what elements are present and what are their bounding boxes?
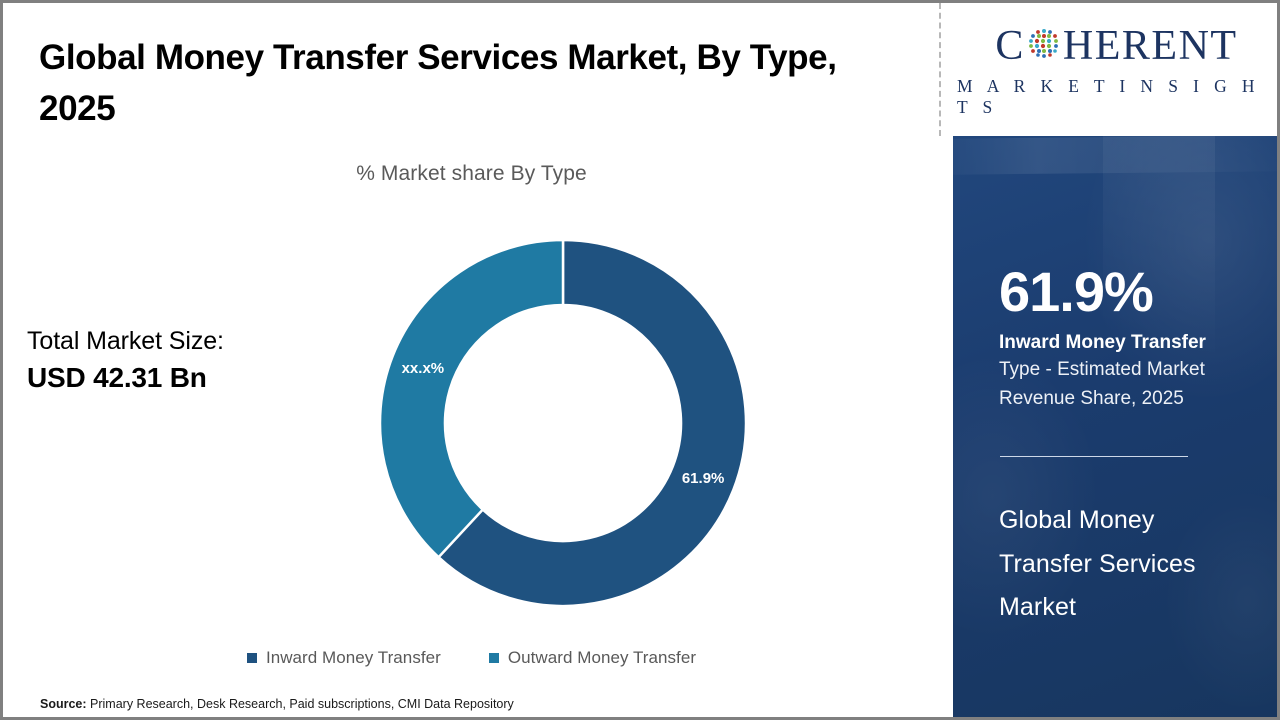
source-note-label: Source: xyxy=(40,697,87,711)
stat-divider-rule xyxy=(1000,456,1188,457)
slice-label-outward: xx.x% xyxy=(402,360,445,377)
stat-detail-text: Type - Estimated Market Revenue Share, 2… xyxy=(999,356,1261,414)
brand-logo: C xyxy=(953,3,1280,136)
legend-swatch-inward-icon xyxy=(247,653,257,663)
brand-logo-wordmark: C xyxy=(995,22,1237,70)
total-market-size-value: USD 42.31 Bn xyxy=(27,360,327,396)
total-market-size-block: Total Market Size: USD 42.31 Bn xyxy=(27,325,327,396)
page-title: Global Money Transfer Services Market, B… xyxy=(39,33,919,135)
chart-subtitle: % Market share By Type xyxy=(3,162,940,186)
stat-market-name: Global Money Transfer Services Market xyxy=(999,499,1249,630)
stat-headline: Inward Money Transfer xyxy=(999,331,1259,356)
donut-slice-outward-money-transfer[interactable] xyxy=(380,240,563,557)
stat-percentage: 61.9% xyxy=(999,264,1153,320)
legend-item-outward[interactable]: Outward Money Transfer xyxy=(489,648,696,668)
total-market-size-label: Total Market Size: xyxy=(27,325,327,357)
legend-item-inward[interactable]: Inward Money Transfer xyxy=(247,648,441,668)
logo-word-after: HERENT xyxy=(1063,25,1238,67)
slice-label-inward: 61.9% xyxy=(682,470,725,487)
legend-label-outward: Outward Money Transfer xyxy=(508,648,696,668)
legend-swatch-outward-icon xyxy=(489,653,499,663)
chart-legend: Inward Money Transfer Outward Money Tran… xyxy=(3,648,940,668)
logo-word-before: C xyxy=(995,25,1025,67)
brand-logo-subtitle: M A R K E T I N S I G H T S xyxy=(953,76,1280,118)
right-sidebar-panel: C xyxy=(953,3,1280,717)
source-note-text: Primary Research, Desk Research, Paid su… xyxy=(87,697,514,711)
donut-chart: 61.9% xx.x% xyxy=(363,223,763,623)
infographic-page: Global Money Transfer Services Market, B… xyxy=(0,0,1280,720)
left-content-panel: Global Money Transfer Services Market, B… xyxy=(3,3,940,717)
donut-chart-svg: 61.9% xx.x% xyxy=(363,223,763,623)
panel-divider xyxy=(939,3,941,136)
dotted-globe-icon xyxy=(1026,25,1062,66)
legend-label-inward: Inward Money Transfer xyxy=(266,648,441,668)
highlight-stat-panel: 61.9% Inward Money Transfer Type - Estim… xyxy=(953,136,1280,717)
source-note: Source: Primary Research, Desk Research,… xyxy=(40,697,514,711)
